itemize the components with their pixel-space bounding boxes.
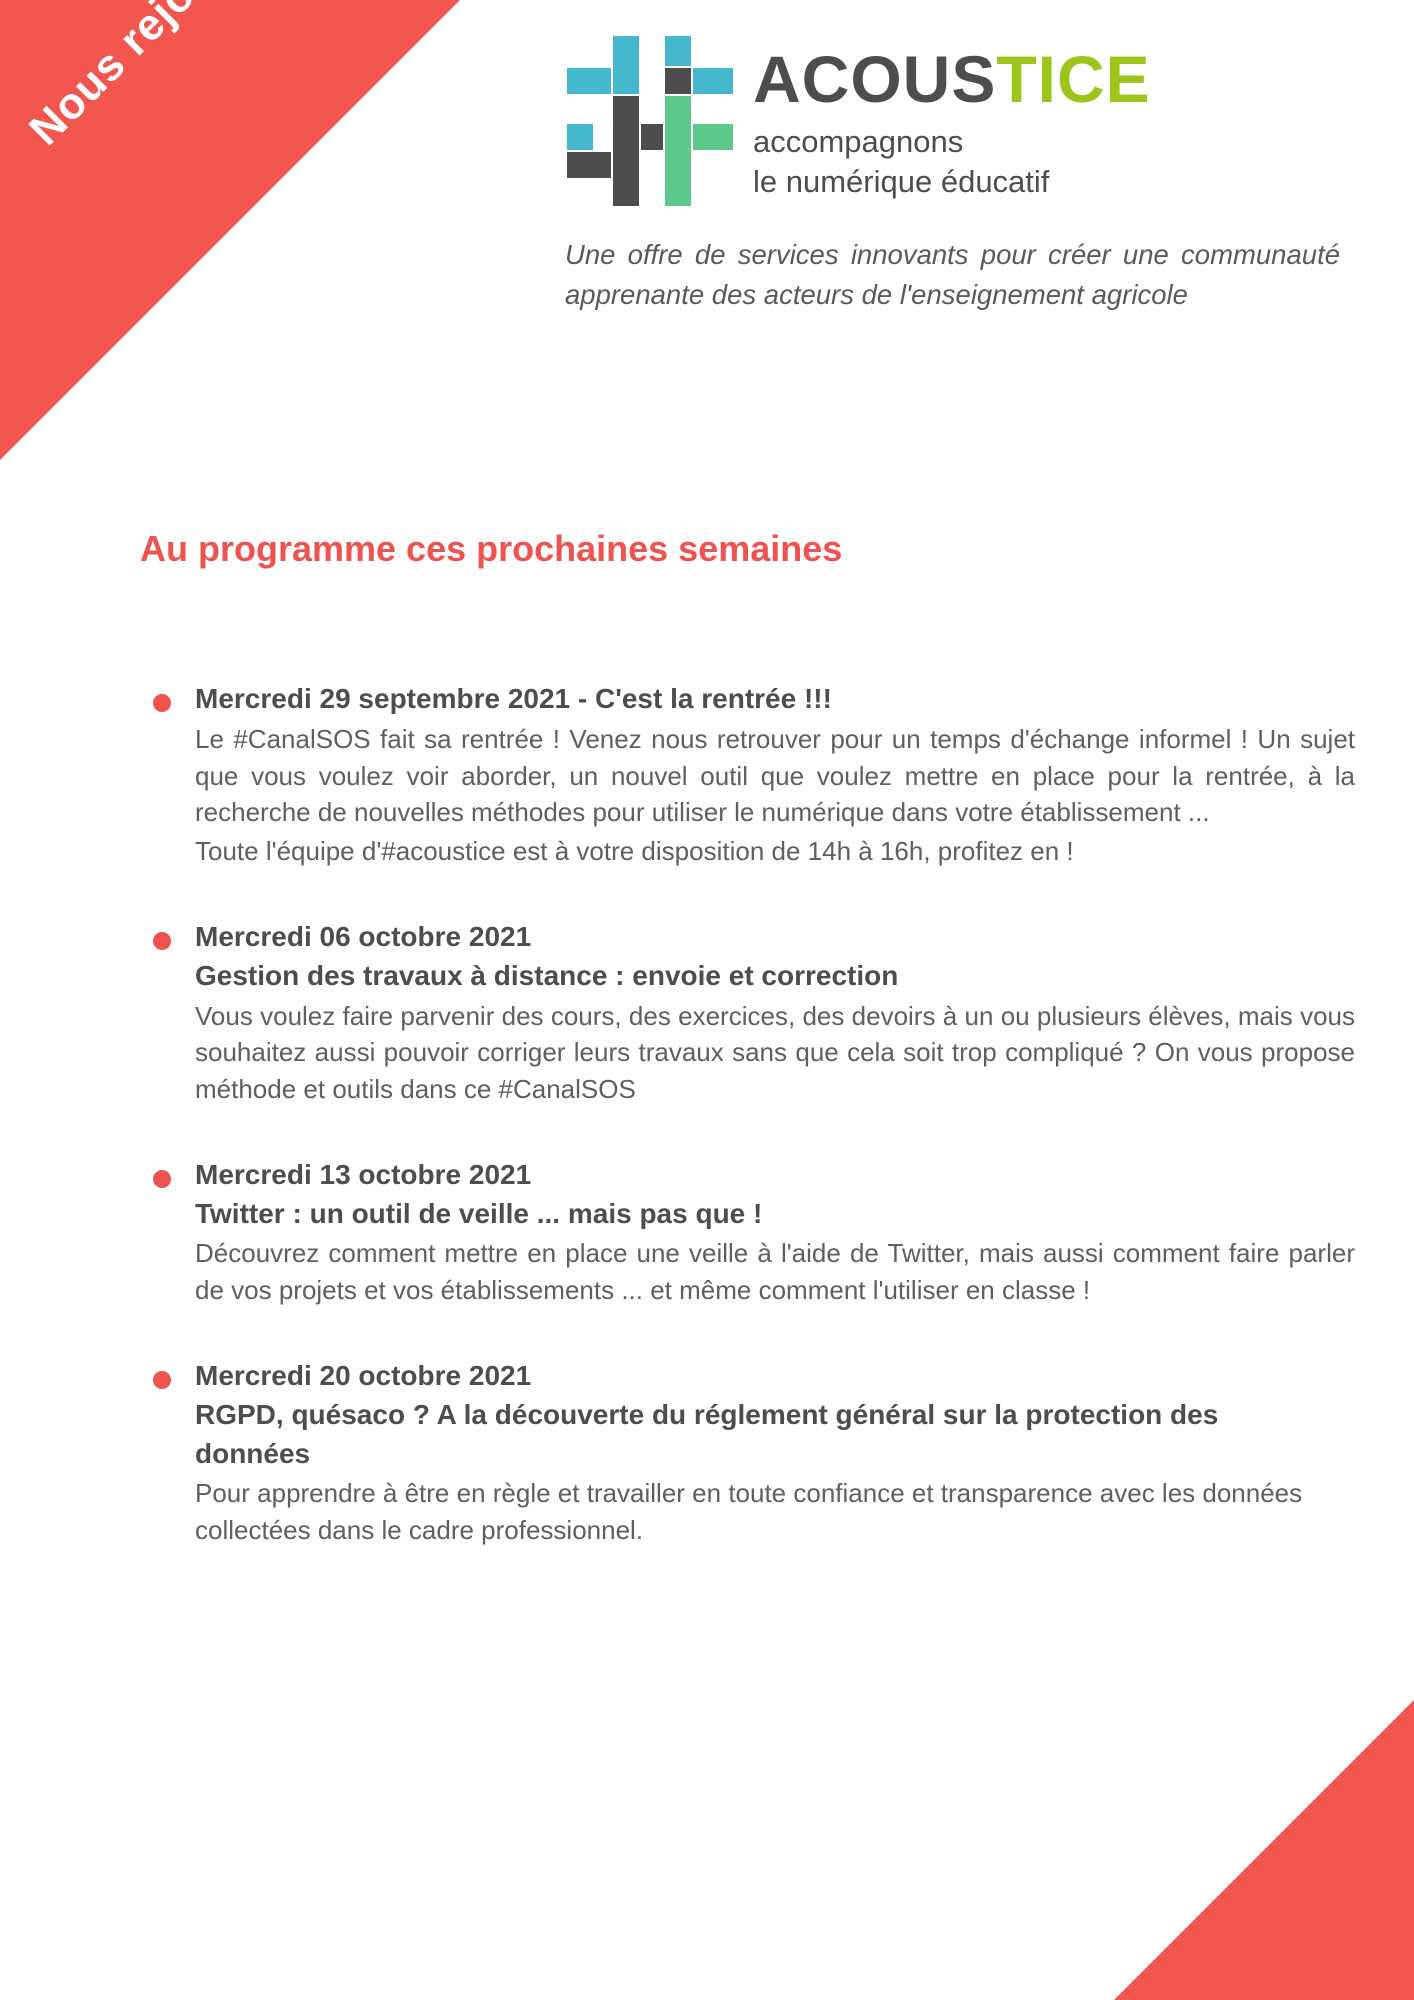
item-heading: Mercredi 29 septembre 2021 - C'est la re… xyxy=(195,680,1340,719)
item-body: Pour apprendre à être en règle et travai… xyxy=(195,1475,1355,1549)
logo-wordmark: ACOUSTICE accompagnons le numérique éduc… xyxy=(753,28,1151,201)
list-item: Mercredi 20 octobre 2021 RGPD, quésaco ?… xyxy=(140,1357,1340,1549)
bullet-icon xyxy=(153,1170,171,1188)
brand-subtitle-line2: le numérique éducatif xyxy=(753,162,1151,202)
item-body-paragraph: Pour apprendre à être en règle et travai… xyxy=(195,1475,1355,1549)
bullet-icon xyxy=(153,1371,171,1389)
bullet-icon xyxy=(153,694,171,712)
item-body: Découvrez comment mettre en place une ve… xyxy=(195,1235,1355,1309)
item-subheading: Twitter : un outil de veille ... mais pa… xyxy=(195,1195,1255,1234)
item-body: Le #CanalSOS fait sa rentrée ! Venez nou… xyxy=(195,721,1355,832)
item-body-paragraph: Vous voulez faire parvenir des cours, de… xyxy=(195,998,1355,1109)
top-left-ribbon xyxy=(0,0,460,460)
brand-subtitle-line1: accompagnons xyxy=(753,122,1151,162)
item-subheading: Gestion des travaux à distance : envoie … xyxy=(195,957,1255,996)
item-heading: Mercredi 20 octobre 2021 xyxy=(195,1357,1340,1396)
item-body: Vous voulez faire parvenir des cours, de… xyxy=(195,998,1355,1109)
tagline: Une offre de services innovants pour cré… xyxy=(565,235,1340,315)
item-body-paragraph: Découvrez comment mettre en place une ve… xyxy=(195,1235,1355,1309)
item-body-secondary: Toute l'équipe d'#acoustice est à votre … xyxy=(195,833,1355,870)
acoustice-hash-logo-icon xyxy=(565,28,735,213)
list-item: Mercredi 06 octobre 2021 Gestion des tra… xyxy=(140,918,1340,1108)
list-item: Mercredi 13 octobre 2021 Twitter : un ou… xyxy=(140,1156,1340,1309)
item-heading: Mercredi 13 octobre 2021 xyxy=(195,1156,1340,1195)
list-item: Mercredi 29 septembre 2021 - C'est la re… xyxy=(140,680,1340,870)
programme-list: Mercredi 29 septembre 2021 - C'est la re… xyxy=(140,680,1340,1597)
page-title: Au programme ces prochaines semaines xyxy=(140,528,842,570)
document-header: ACOUSTICE accompagnons le numérique éduc… xyxy=(565,28,1345,315)
item-subheading: RGPD, quésaco ? A la découverte du régle… xyxy=(195,1396,1255,1473)
brand-title: ACOUSTICE xyxy=(753,46,1151,112)
logo-row: ACOUSTICE accompagnons le numérique éduc… xyxy=(565,28,1345,213)
bottom-right-ribbon xyxy=(1114,1700,1414,2000)
brand-title-first: ACOUS xyxy=(753,42,996,116)
item-heading: Mercredi 06 octobre 2021 xyxy=(195,918,1340,957)
brand-subtitle: accompagnons le numérique éducatif xyxy=(753,122,1151,201)
bullet-icon xyxy=(153,932,171,950)
brand-title-second: TICE xyxy=(996,42,1150,116)
item-body-paragraph-2: Toute l'équipe d'#acoustice est à votre … xyxy=(195,833,1355,870)
item-body-paragraph: Le #CanalSOS fait sa rentrée ! Venez nou… xyxy=(195,721,1355,832)
